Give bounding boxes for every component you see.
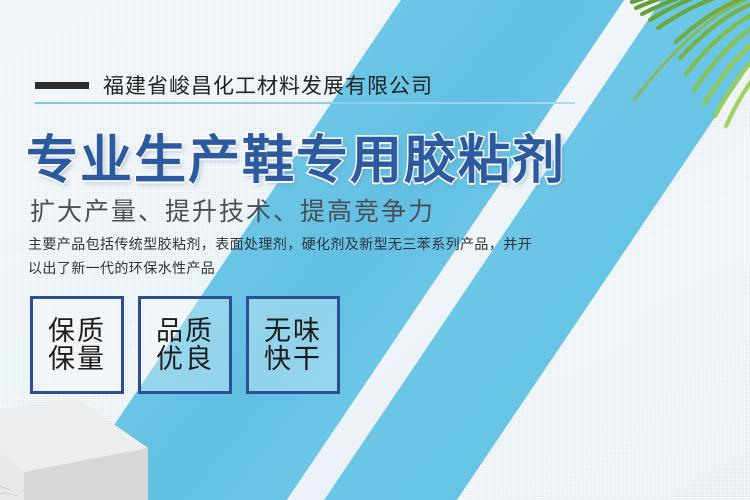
- brand-row: 福建省峻昌化工材料发展有限公司: [35, 70, 433, 100]
- feature-line-2: 优良: [156, 345, 214, 373]
- feature-line-2: 保量: [48, 345, 106, 373]
- feature-box: 无味 快干: [246, 296, 340, 394]
- promo-banner: 福建省峻昌化工材料发展有限公司 专业生产鞋专用胶粘剂 扩大产量、提升技术、提高竞…: [0, 0, 750, 500]
- feature-line-1: 保质: [48, 317, 106, 345]
- feature-box: 品质 优良: [138, 296, 232, 394]
- headline: 专业生产鞋专用胶粘剂: [26, 118, 566, 193]
- dash-marker-icon: [35, 82, 89, 89]
- feature-line-2: 快干: [264, 345, 322, 373]
- subheadline: 扩大产量、提升技术、提高竞争力: [30, 192, 435, 228]
- feature-box-list: 保质 保量 品质 优良 无味 快干: [30, 296, 340, 394]
- description-text: 主要产品包括传统型胶粘剂，表面处理剂，硬化剂及新型无三苯系列产品，并开以出了新一…: [28, 232, 538, 280]
- feature-line-1: 无味: [264, 317, 322, 345]
- feature-line-1: 品质: [156, 317, 214, 345]
- divider-rule: [35, 102, 575, 104]
- company-name: 福建省峻昌化工材料发展有限公司: [103, 70, 433, 100]
- feature-box: 保质 保量: [30, 296, 124, 394]
